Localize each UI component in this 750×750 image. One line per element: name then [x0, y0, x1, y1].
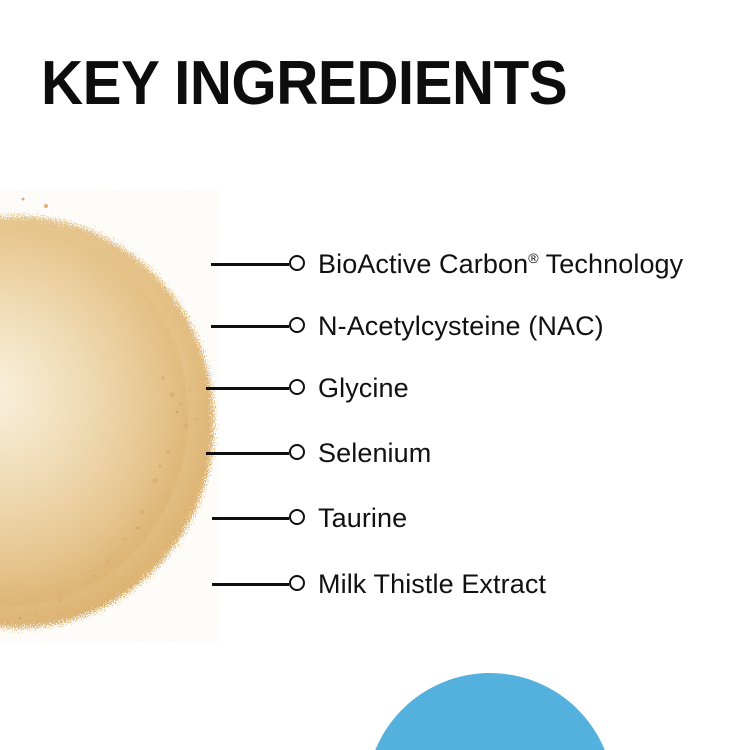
leader-line-icon	[206, 452, 289, 455]
ingredient-callout-list: BioActive Carbon® Technology N-Acetylcys…	[0, 0, 750, 750]
leader-line-icon	[206, 387, 289, 390]
key-ingredients-graphic: KEY INGREDIENTS	[0, 0, 750, 750]
bullet-circle-icon	[289, 575, 305, 591]
leader-line-icon	[212, 583, 289, 586]
registered-trademark-icon: ®	[528, 250, 538, 266]
ingredient-label: N-Acetylcysteine (NAC)	[318, 311, 604, 341]
bullet-circle-icon	[289, 255, 305, 271]
bullet-circle-icon	[289, 379, 305, 395]
ingredient-label: Milk Thistle Extract	[318, 569, 546, 599]
ingredient-label: Taurine	[318, 503, 407, 533]
bullet-circle-icon	[289, 509, 305, 525]
ingredient-label: Selenium	[318, 438, 431, 468]
leader-line-icon	[211, 263, 289, 266]
ingredient-label: BioActive Carbon® Technology	[318, 249, 683, 279]
bullet-circle-icon	[289, 444, 305, 460]
leader-line-icon	[211, 325, 289, 328]
ingredient-label: Glycine	[318, 373, 409, 403]
bullet-circle-icon	[289, 317, 305, 333]
leader-line-icon	[212, 517, 289, 520]
